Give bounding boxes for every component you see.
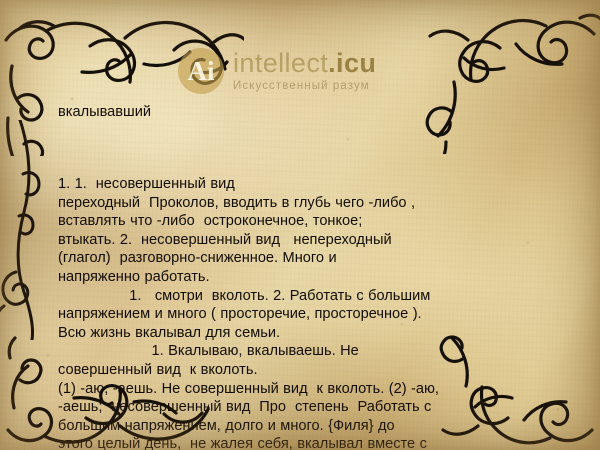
headword: вкалывавший	[58, 103, 558, 122]
dictionary-entry: вкалывавший 1. 1. несовершенный вид пере…	[58, 66, 558, 450]
ornament-left-vine-icon	[0, 120, 48, 340]
parchment-page: Ai intellect.icu Искусственный разум вка…	[0, 0, 600, 450]
entry-body: 1. 1. несовершенный вид переходный Проко…	[58, 175, 558, 450]
